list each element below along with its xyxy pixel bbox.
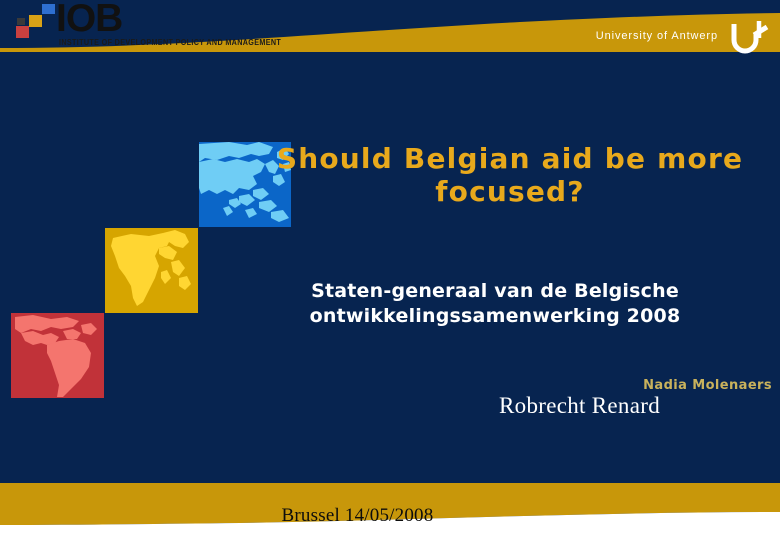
logo-square-red-icon [16,26,29,38]
university-label: University of Antwerp [596,30,718,42]
presentation-slide: IOB INSTITUTE OF DEVELOPMENT POLICY AND … [0,0,780,540]
iob-logo: IOB INSTITUTE OF DEVELOPMENT POLICY AND … [16,2,266,48]
author-primary: Robrecht Renard [330,393,660,419]
slide-title: Should Belgian aid be more focused? [275,142,745,208]
location-date: Brussel 14/05/2008 [0,505,780,527]
logo-square-gold-icon [29,15,42,27]
ua-monogram-icon [726,18,772,58]
slide-header: IOB INSTITUTE OF DEVELOPMENT POLICY AND … [0,0,780,62]
map-tile-africa [105,228,198,313]
iob-tagline: INSTITUTE OF DEVELOPMENT POLICY AND MANA… [59,37,281,47]
logo-square-dark-icon [17,18,25,25]
map-tile-americas [11,313,104,398]
slide-subtitle: Staten-generaal van de Belgische ontwikk… [245,279,745,329]
map-americas-icon [11,313,104,398]
map-africa-icon [105,228,198,313]
logo-square-blue-icon [42,4,55,14]
iob-wordmark: IOB [56,0,122,40]
author-secondary: Nadia Molenaers [400,378,772,393]
